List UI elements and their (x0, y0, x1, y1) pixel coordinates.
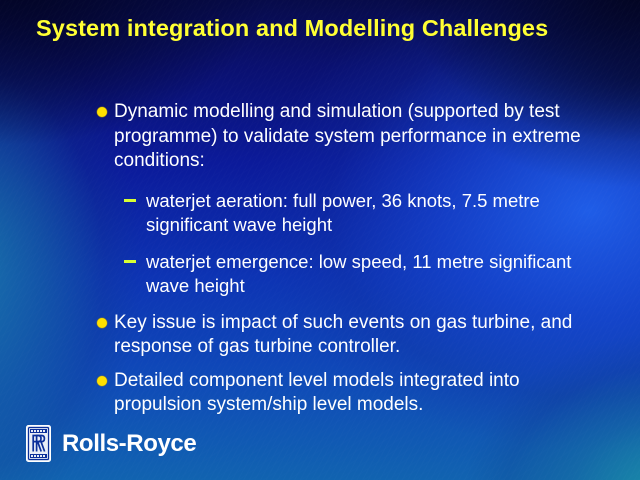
sub-bullet-item: waterjet aeration: full power, 36 knots,… (0, 189, 640, 237)
round-bullet-icon (97, 318, 107, 328)
round-bullet-icon (97, 376, 107, 386)
slide-body: Dynamic modelling and simulation (suppor… (0, 100, 640, 427)
bullet-item: Key issue is impact of such events on ga… (0, 311, 640, 360)
bullet-text: Key issue is impact of such events on ga… (114, 311, 592, 360)
bullet-text: Dynamic modelling and simulation (suppor… (114, 100, 592, 174)
slide-title: System integration and Modelling Challen… (36, 14, 620, 42)
bullet-text: Detailed component level models integrat… (114, 369, 592, 418)
round-bullet-icon (97, 107, 107, 117)
presentation-slide: System integration and Modelling Challen… (0, 0, 640, 480)
sub-bullet-text: waterjet aeration: full power, 36 knots,… (146, 189, 588, 237)
sub-bullet-text: waterjet emergence: low speed, 11 metre … (146, 250, 588, 298)
rolls-royce-wordmark: Rolls-Royce (62, 431, 196, 457)
bullet-item: Detailed component level models integrat… (0, 369, 640, 418)
bullet-item: Dynamic modelling and simulation (suppor… (0, 100, 640, 174)
rolls-royce-logo: Rolls-Royce (26, 425, 196, 462)
sub-bullet-item: waterjet emergence: low speed, 11 metre … (0, 250, 640, 298)
rolls-royce-rr-monogram-icon (26, 425, 51, 462)
dash-bullet-icon (124, 260, 136, 263)
dash-bullet-icon (124, 199, 136, 202)
